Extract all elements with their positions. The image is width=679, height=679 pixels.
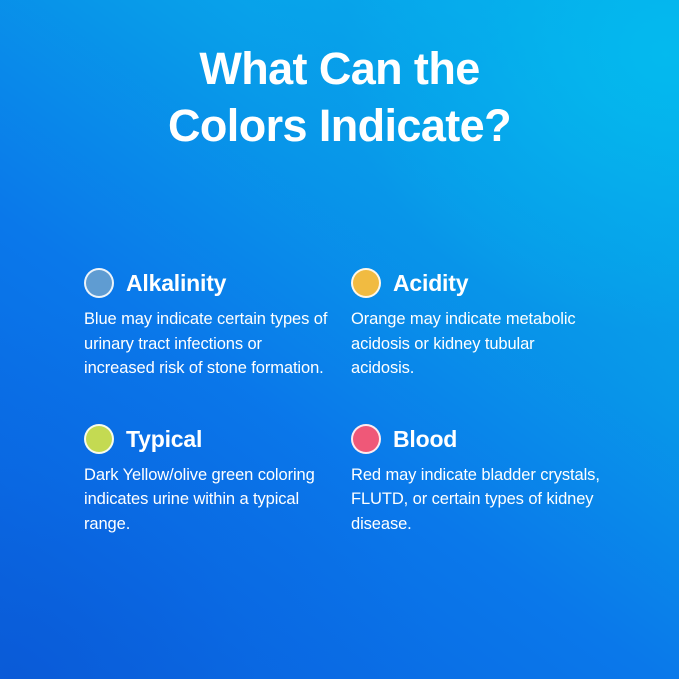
- legend-item-description-acidity: Orange may indicate metabolic acidosis o…: [351, 307, 601, 381]
- color-swatch-icon-alkalinity: [84, 268, 114, 298]
- legend-item-header: Acidity: [351, 268, 604, 298]
- page-title: What Can the Colors Indicate?: [0, 40, 679, 154]
- color-swatch-icon-acidity: [351, 268, 381, 298]
- color-legend-grid: Alkalinity Blue may indicate certain typ…: [84, 268, 604, 536]
- infographic-card: What Can the Colors Indicate? Alkalinity…: [0, 0, 679, 679]
- legend-item-header: Alkalinity: [84, 268, 351, 298]
- legend-item-header: Blood: [351, 424, 604, 454]
- page-title-line-1: What Can the: [40, 40, 639, 97]
- legend-item-header: Typical: [84, 424, 351, 454]
- color-swatch-icon-blood: [351, 424, 381, 454]
- legend-item-acidity: Acidity Orange may indicate metabolic ac…: [351, 268, 604, 381]
- legend-item-title-typical: Typical: [126, 426, 202, 452]
- legend-item-title-acidity: Acidity: [393, 270, 468, 296]
- page-title-line-2: Colors Indicate?: [40, 97, 639, 154]
- legend-item-description-blood: Red may indicate bladder crystals, FLUTD…: [351, 463, 601, 537]
- legend-item-blood: Blood Red may indicate bladder crystals,…: [351, 424, 604, 537]
- legend-item-description-typical: Dark Yellow/olive green coloring indicat…: [84, 463, 329, 537]
- legend-item-title-alkalinity: Alkalinity: [126, 270, 226, 296]
- legend-item-typical: Typical Dark Yellow/olive green coloring…: [84, 424, 351, 537]
- legend-item-alkalinity: Alkalinity Blue may indicate certain typ…: [84, 268, 351, 381]
- infographic-content: What Can the Colors Indicate? Alkalinity…: [0, 0, 679, 679]
- color-swatch-icon-typical: [84, 424, 114, 454]
- legend-item-description-alkalinity: Blue may indicate certain types of urina…: [84, 307, 329, 381]
- legend-item-title-blood: Blood: [393, 426, 457, 452]
